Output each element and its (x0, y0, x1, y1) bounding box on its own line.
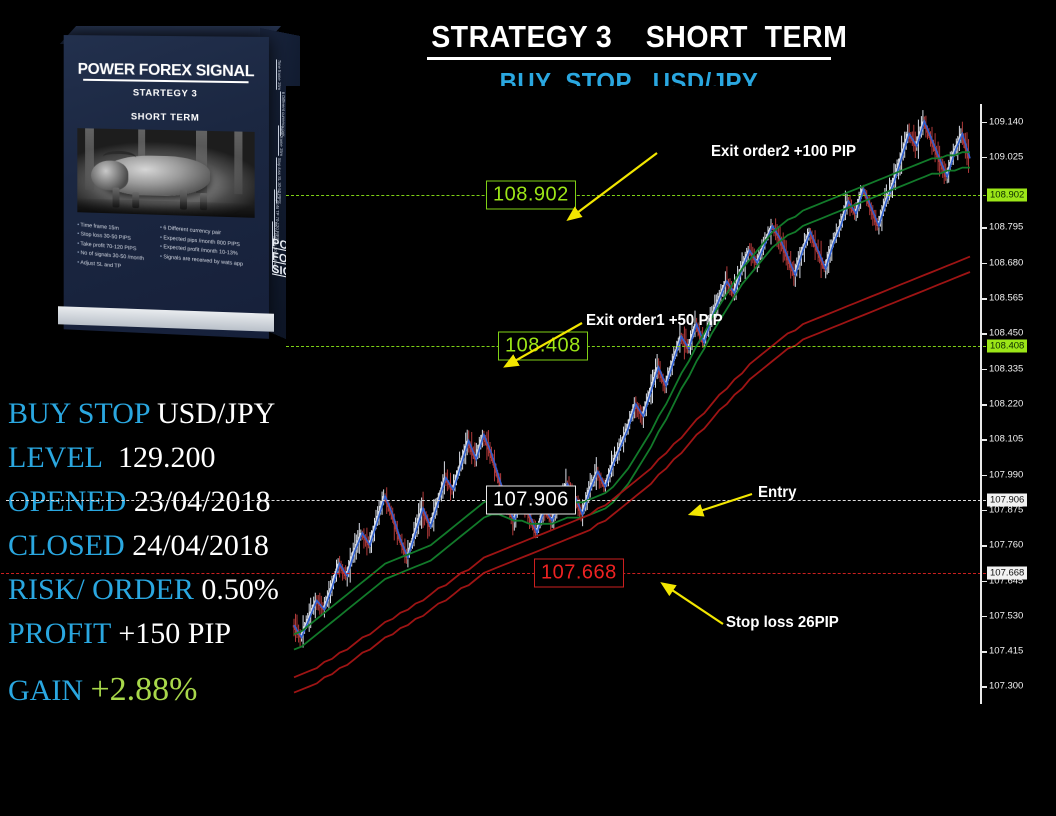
axis-tick-label: 108.220 (989, 399, 1023, 410)
chart-plot-area (286, 86, 976, 726)
axis-tick-label: 108.565 (989, 293, 1023, 304)
title-underline (427, 57, 831, 60)
box-term-label: SHORT TERM (64, 110, 269, 125)
axis-price-badge-red: 107.668 (987, 567, 1027, 580)
level-line-take-profit-2 (286, 195, 986, 196)
product-box-mockup: POWER FOREX SIGNAL STARTEGY 3 SHORT TERM (46, 14, 296, 350)
axis-tick-label: 107.415 (989, 646, 1023, 657)
stat-label: OPENED (8, 485, 126, 518)
stat-value: 23/04/2018 (134, 485, 271, 518)
axis-tick (980, 581, 987, 583)
axis-price-badge-green: 108.408 (987, 340, 1027, 353)
stat-value: 0.50% (201, 573, 279, 606)
price-chart: 108.902 108.408 107.906 107.668 Exit ord… (286, 86, 1056, 726)
annotation-exit-order2: Exit order2 +100 PIP (711, 143, 856, 161)
axis-tick-label: 108.335 (989, 363, 1023, 374)
level-line-take-profit-1 (286, 346, 986, 347)
axis-tick (980, 545, 987, 547)
stat-value: +150 PIP (118, 617, 231, 650)
axis-tick (980, 686, 987, 688)
axis-price-badge-green: 108.902 (987, 188, 1027, 201)
box-bullets-left: Time frame 15m Stop loss 30-50 PIPS Take… (77, 221, 160, 271)
axis-tick (980, 404, 987, 406)
stat-label: PROFIT (8, 617, 111, 650)
stat-label: CLOSED (8, 529, 125, 562)
axis-tick-label: 108.105 (989, 434, 1023, 445)
axis-tick-label: 107.990 (989, 469, 1023, 480)
stat-label: GAIN (8, 674, 83, 707)
stat-label: LEVEL (8, 441, 103, 474)
axis-tick (980, 333, 987, 335)
axis-tick-label: 108.795 (989, 222, 1023, 233)
annotation-entry: Entry (758, 484, 796, 502)
axis-tick (980, 369, 987, 371)
level-line-stop-loss (0, 573, 986, 574)
axis-tick-label: 108.680 (989, 257, 1023, 268)
stat-value: +2.88% (91, 671, 198, 708)
price-box-entry: 107.906 (486, 486, 576, 515)
price-box-stop-loss: 107.668 (534, 559, 624, 588)
price-axis: 109.140109.025108.795108.680108.565108.4… (976, 86, 1056, 726)
axis-tick (980, 475, 987, 477)
axis-tick-label: 107.300 (989, 681, 1023, 692)
chart-series-layer (286, 86, 976, 726)
stat-value: USD/JPY (157, 397, 275, 430)
axis-tick (980, 651, 987, 653)
price-box-take-profit-1: 108.408 (498, 332, 588, 361)
axis-tick-label: 107.760 (989, 540, 1023, 551)
charging-bull-photo (77, 128, 254, 218)
axis-tick (980, 122, 987, 124)
axis-tick (980, 298, 987, 300)
axis-tick (980, 157, 987, 159)
axis-tick-label: 107.530 (989, 610, 1023, 621)
box-bullets-right: 6 Different currency pair Expected pips … (160, 224, 261, 266)
axis-tick (980, 616, 987, 618)
box-side-line: Time frame 15m (276, 59, 282, 90)
axis-tick (980, 227, 987, 229)
signal-card: STRATEGY 3 SHORT TERM BUY STOP USD/JPY P… (0, 0, 1056, 816)
ma-band-red-lower (294, 272, 970, 693)
axis-price-badge-white: 107.906 (987, 494, 1027, 507)
axis-tick-label: 109.025 (989, 151, 1023, 162)
box-side-line: Time frame 15m (278, 125, 284, 156)
box-strategy-label: STARTEGY 3 (64, 86, 269, 100)
stat-label: BUY STOP (8, 397, 149, 430)
ma-band-green-lower (294, 168, 970, 650)
ma-band-green-upper (294, 152, 970, 634)
stat-label: RISK/ ORDER (8, 573, 194, 606)
axis-tick (980, 510, 987, 512)
axis-tick (980, 263, 987, 265)
axis-tick-label: 109.140 (989, 116, 1023, 127)
axis-tick-label: 108.450 (989, 328, 1023, 339)
price-box-take-profit-2: 108.902 (486, 180, 576, 209)
bull-horn (103, 151, 136, 165)
stat-value: 129.200 (118, 441, 216, 474)
bull-head (91, 160, 128, 191)
trend-line-up (294, 122, 970, 638)
annotation-exit-order1: Exit order1 +50 PIP (586, 312, 723, 330)
box-front-face: POWER FOREX SIGNAL STARTEGY 3 SHORT TERM (64, 35, 269, 339)
box-feature-bullets: Time frame 15m Stop loss 30-50 PIPS Take… (75, 221, 260, 320)
axis-tick (980, 439, 987, 441)
candlestick-series (294, 110, 969, 648)
page-title: STRATEGY 3 SHORT TERM (431, 20, 827, 54)
annotation-stop-loss: Stop loss 26PIP (726, 614, 839, 632)
stat-value: 24/04/2018 (132, 529, 269, 562)
